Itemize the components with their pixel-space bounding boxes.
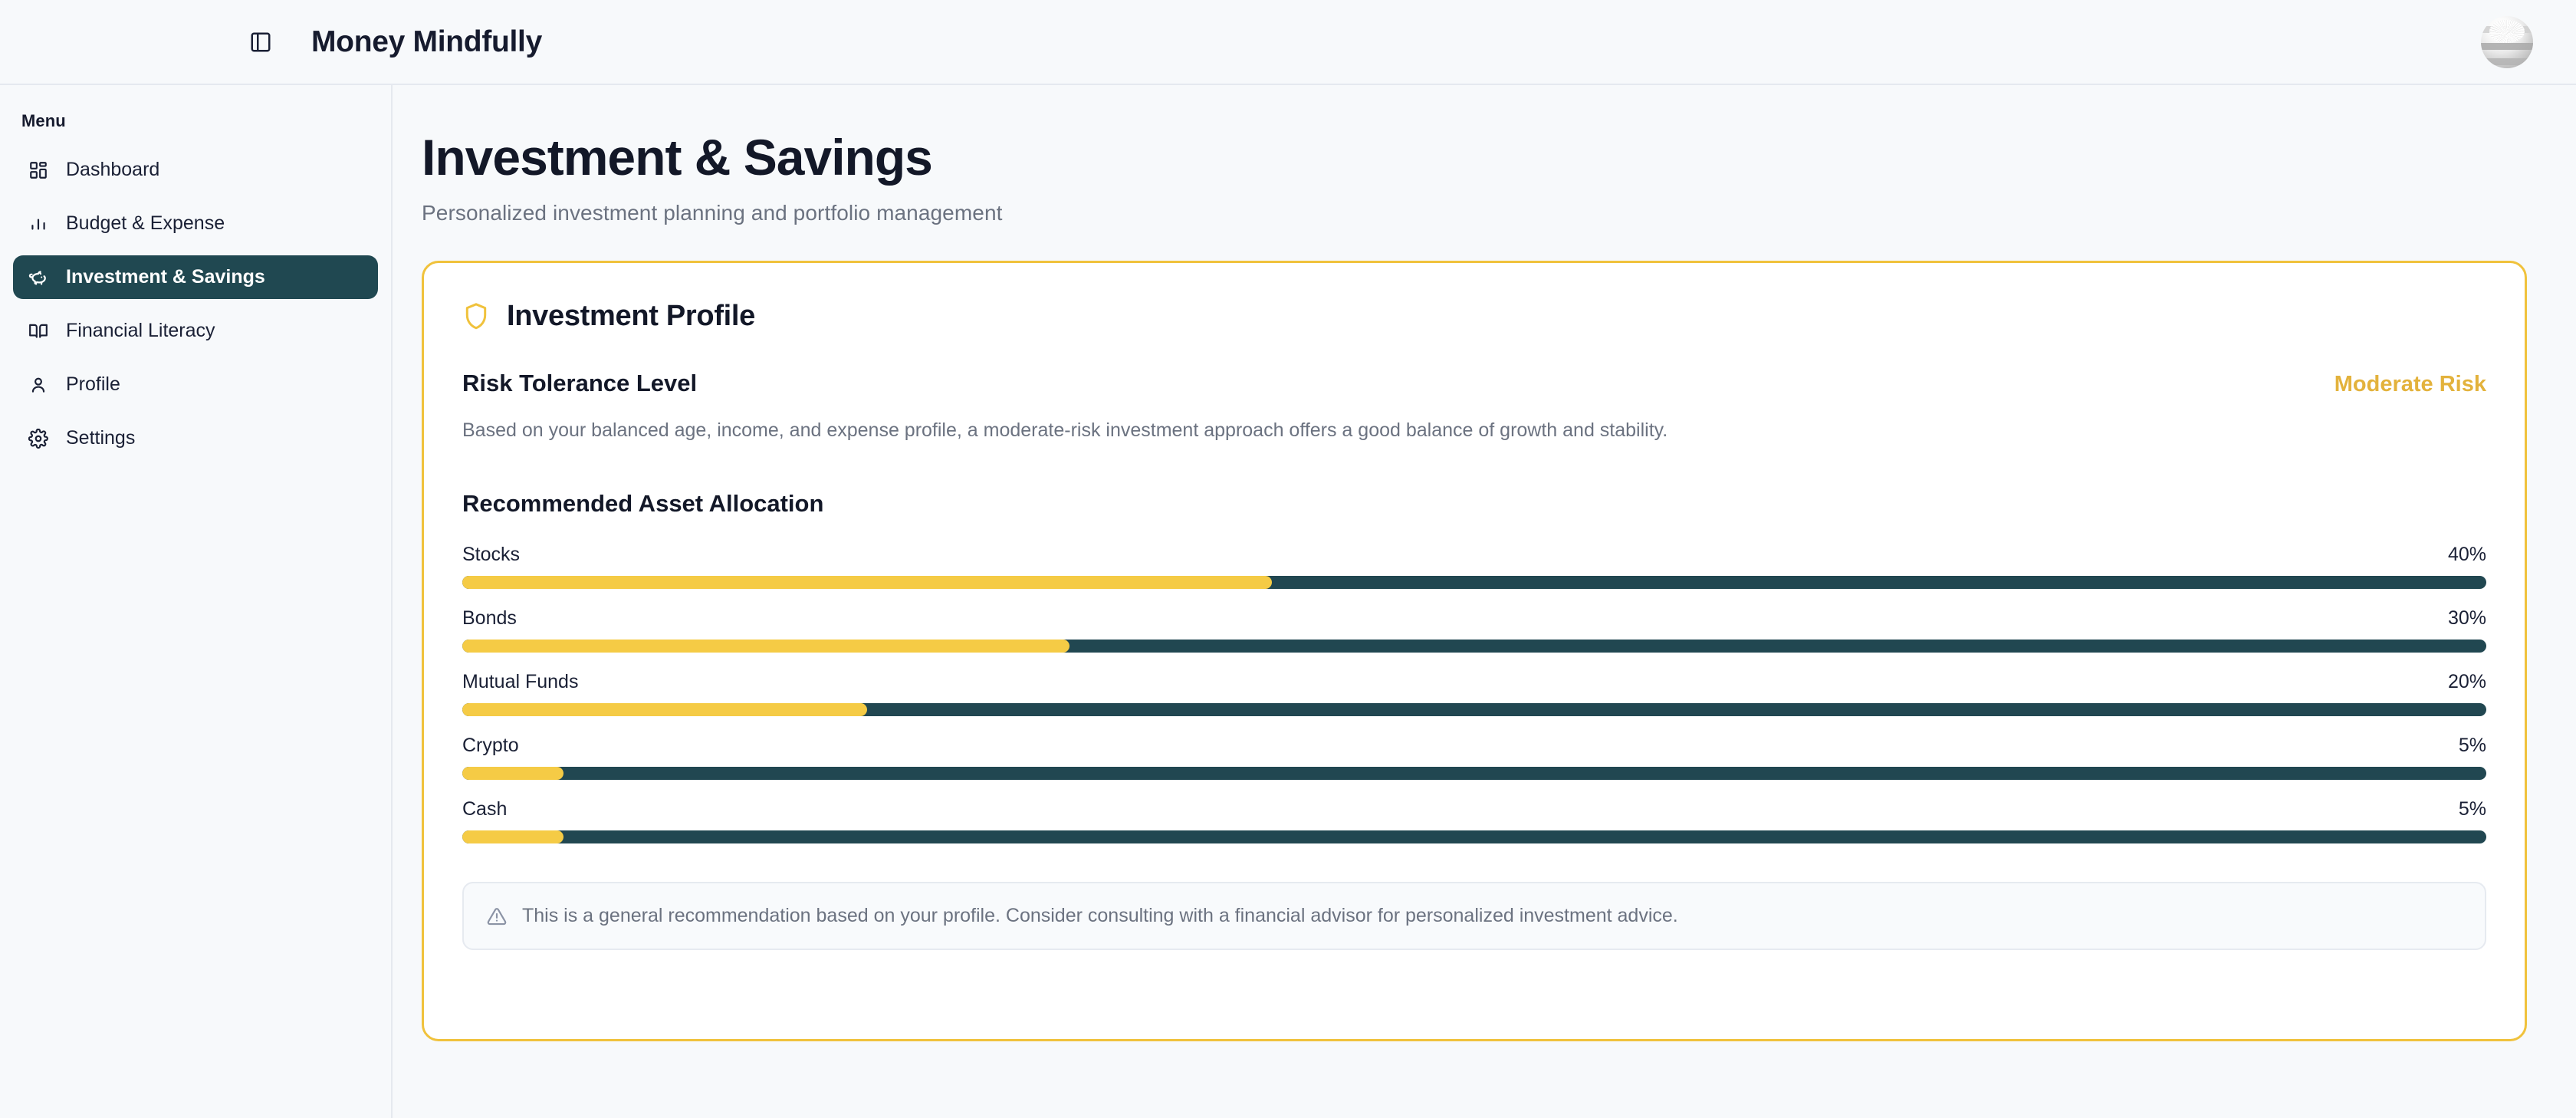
- allocation-value: 20%: [2448, 671, 2486, 693]
- allocation-label: Bonds: [462, 607, 517, 630]
- header-left-group: Money Mindfully: [0, 25, 542, 59]
- sidebar-item-dashboard[interactable]: Dashboard: [13, 148, 378, 192]
- sidebar-item-label: Investment & Savings: [66, 266, 265, 288]
- app-title: Money Mindfully: [311, 25, 542, 59]
- user-icon: [26, 373, 51, 397]
- allocation-row: Stocks 40%: [462, 544, 2486, 589]
- avatar[interactable]: [2481, 16, 2533, 68]
- allocation-value: 40%: [2448, 544, 2486, 566]
- asset-allocation-list: Stocks 40% Bonds 30% Mutual Funds: [462, 544, 2486, 843]
- page-subtitle: Personalized investment planning and por…: [422, 201, 2527, 225]
- sidebar-item-label: Profile: [66, 373, 120, 396]
- allocation-row: Cash 5%: [462, 798, 2486, 843]
- allocation-bar-track: [462, 576, 2486, 589]
- allocation-value: 30%: [2448, 607, 2486, 630]
- sidebar-item-investment-savings[interactable]: Investment & Savings: [13, 255, 378, 299]
- page-title: Investment & Savings: [422, 131, 2527, 184]
- warning-triangle-icon: [487, 906, 507, 926]
- allocation-label: Crypto: [462, 735, 519, 757]
- allocation-value: 5%: [2459, 798, 2486, 820]
- header-right-group: [2481, 16, 2533, 68]
- sidebar-item-budget-expense[interactable]: Budget & Expense: [13, 202, 378, 245]
- allocation-label: Stocks: [462, 544, 520, 566]
- sidebar-toggle-icon[interactable]: [244, 25, 278, 59]
- risk-level-badge: Moderate Risk: [2334, 372, 2486, 397]
- disclaimer-text: This is a general recommendation based o…: [522, 903, 1678, 929]
- risk-tolerance-row: Risk Tolerance Level Moderate Risk: [462, 370, 2486, 397]
- allocation-value: 5%: [2459, 735, 2486, 757]
- sidebar-item-settings[interactable]: Settings: [13, 416, 378, 460]
- card-header: Investment Profile: [462, 300, 2486, 333]
- bar-chart-icon: [26, 212, 51, 236]
- asset-allocation-title: Recommended Asset Allocation: [462, 490, 2486, 518]
- sidebar-nav: Dashboard Budget & Expense: [0, 148, 391, 460]
- sidebar-item-label: Budget & Expense: [66, 212, 225, 235]
- allocation-bar-fill: [462, 703, 867, 716]
- sidebar-item-label: Settings: [66, 427, 135, 449]
- allocation-bar-fill: [462, 576, 1272, 589]
- allocation-row: Bonds 30%: [462, 607, 2486, 653]
- card-title: Investment Profile: [507, 300, 755, 333]
- allocation-bar-fill: [462, 640, 1069, 653]
- allocation-bar-fill: [462, 830, 563, 843]
- sidebar-item-profile[interactable]: Profile: [13, 363, 378, 406]
- disclaimer-note: This is a general recommendation based o…: [462, 882, 2486, 950]
- allocation-row: Crypto 5%: [462, 735, 2486, 780]
- risk-tolerance-title: Risk Tolerance Level: [462, 370, 697, 397]
- shield-icon: [462, 301, 490, 332]
- main-content: Investment & Savings Personalized invest…: [394, 85, 2576, 1118]
- allocation-row: Mutual Funds 20%: [462, 671, 2486, 716]
- piggy-bank-icon: [26, 265, 51, 290]
- risk-description: Based on your balanced age, income, and …: [462, 417, 2486, 444]
- allocation-label: Mutual Funds: [462, 671, 578, 693]
- book-open-icon: [26, 319, 51, 344]
- allocation-bar-fill: [462, 767, 563, 780]
- allocation-bar-track: [462, 703, 2486, 716]
- allocation-label: Cash: [462, 798, 507, 820]
- allocation-bar-track: [462, 767, 2486, 780]
- sidebar: Menu Dashboard Budget & Ex: [0, 85, 393, 1118]
- sidebar-item-label: Dashboard: [66, 159, 159, 181]
- allocation-bar-track: [462, 640, 2486, 653]
- grid-icon: [26, 158, 51, 182]
- investment-profile-card: Investment Profile Risk Tolerance Level …: [422, 261, 2527, 1041]
- sidebar-item-label: Financial Literacy: [66, 320, 215, 342]
- sidebar-item-financial-literacy[interactable]: Financial Literacy: [13, 309, 378, 353]
- gear-icon: [26, 426, 51, 451]
- app-header: Money Mindfully: [0, 0, 2576, 85]
- sidebar-section-label: Menu: [0, 111, 391, 131]
- allocation-bar-track: [462, 830, 2486, 843]
